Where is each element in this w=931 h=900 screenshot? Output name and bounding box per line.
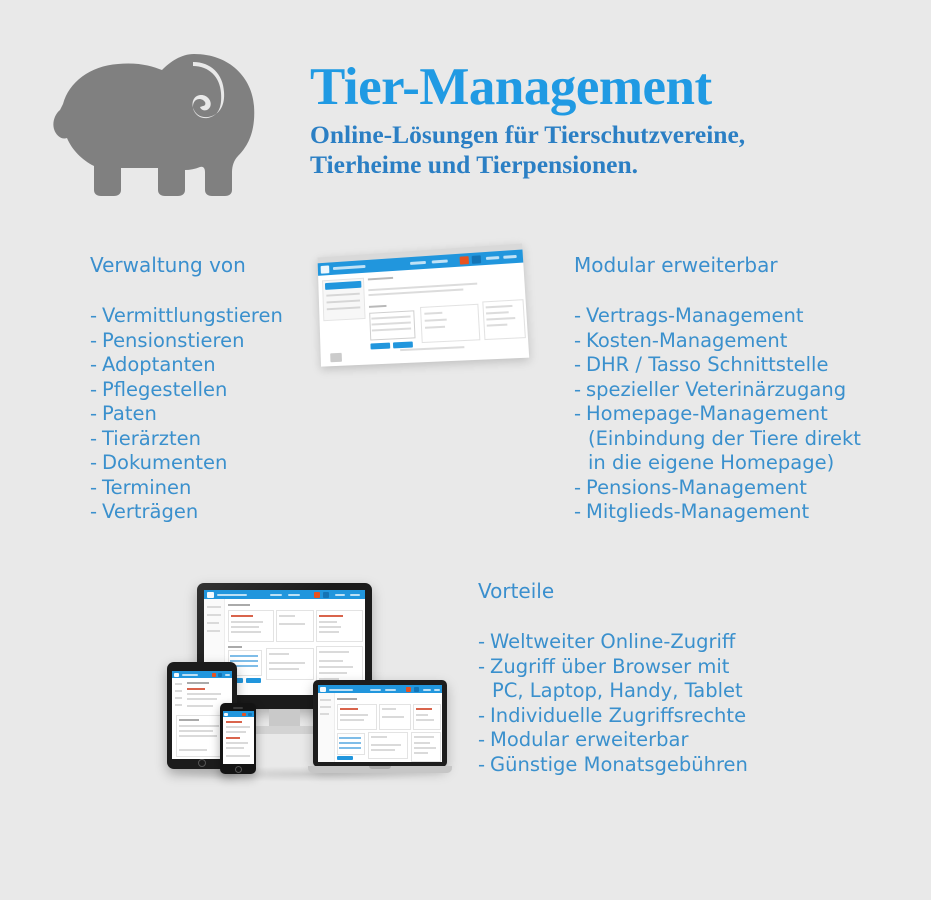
nav-item (225, 674, 230, 676)
nav-item (385, 689, 396, 691)
app-body (318, 263, 529, 367)
dash-marker: - (478, 728, 490, 753)
list-item: -Modular erweiterbar (478, 728, 798, 753)
card-line (416, 714, 428, 716)
panel-line (414, 742, 430, 744)
list-item: -Kosten-Management (574, 329, 904, 354)
sidebar-item (326, 293, 359, 297)
feature-list-verwaltung: -Vermittlungstieren -Pensionstieren -Ado… (90, 304, 320, 525)
secondary-button[interactable] (393, 341, 413, 348)
panel-line (414, 752, 428, 754)
dash-marker: - (574, 402, 586, 427)
list-item: -Mitglieds-Management (574, 500, 904, 525)
panel-line (319, 651, 349, 653)
phone-screen (223, 711, 254, 764)
list-item-label: spezieller Veterinärzugang (586, 378, 846, 401)
dash-marker: - (90, 329, 102, 354)
list-item: -Weltweiter Online-Zugriff (478, 630, 798, 655)
list-item-label: Modular erweiterbar (490, 728, 688, 751)
dash-marker: - (478, 630, 490, 655)
list-item-label: Pensions-Management (586, 476, 807, 499)
panel-line (319, 666, 353, 668)
content-line (226, 737, 240, 739)
secondary-button[interactable] (246, 678, 261, 683)
nav-item (370, 689, 381, 691)
card-line (416, 708, 432, 710)
panel-line (319, 660, 343, 662)
card-line (340, 708, 358, 710)
page-heading (337, 698, 357, 700)
list-item-label: Pflegestellen (102, 378, 227, 401)
list-item-label: Pensionstieren (102, 329, 244, 352)
nav-action-icon (248, 713, 252, 716)
card-line (319, 626, 341, 628)
nav-item (423, 689, 431, 691)
sidebar-item (175, 704, 182, 706)
title-block: Tier-Management Online-Lösungen für Tier… (310, 58, 910, 180)
nav-item (410, 261, 426, 265)
list-item: -Pensionstieren (90, 329, 320, 354)
dash-marker: - (574, 329, 586, 354)
laptop-notch (369, 766, 391, 769)
dash-marker: - (90, 353, 102, 378)
sidebar-item (327, 306, 361, 310)
card-line (279, 623, 305, 625)
tablet-home-button[interactable] (198, 759, 206, 767)
page-heading (228, 604, 250, 606)
list-item: -Adoptanten (90, 353, 320, 378)
card-line (319, 615, 343, 617)
list-item-label: Homepage-Management (586, 402, 828, 425)
detail-panel (420, 304, 480, 343)
list-item-label: Kosten-Management (586, 329, 787, 352)
card-line (382, 716, 404, 718)
sidebar-active-item (325, 281, 361, 290)
list-item-label: Vertrags-Management (586, 304, 803, 327)
card-line (231, 621, 263, 623)
card-line (279, 615, 295, 617)
list-item: -DHR / Tasso Schnittstelle (574, 353, 904, 378)
list-item-label: Dokumenten (102, 451, 227, 474)
feature-list-modular: -Vertrags-Management -Kosten-Management … (574, 304, 904, 525)
app-navbar (172, 671, 232, 678)
panel-line (371, 749, 395, 751)
content-line (187, 693, 221, 695)
nav-item (432, 259, 448, 263)
nav-item (434, 689, 440, 691)
phone-home-button[interactable] (235, 766, 242, 773)
column-heading-vorteile: Vorteile (478, 578, 798, 604)
column-vorteile: Vorteile -Weltweiter Online-Zugriff -Zug… (478, 578, 798, 777)
dash-marker: - (574, 500, 586, 525)
card-line (319, 621, 337, 623)
dash-marker: - (574, 304, 586, 329)
list-item-label: Paten (102, 402, 157, 425)
list-item: -Tierärzten (90, 427, 320, 452)
dash-marker: - (90, 427, 102, 452)
notification-badge (212, 673, 216, 677)
app-logo-icon (224, 713, 228, 716)
card-line (231, 626, 259, 628)
nav-item (350, 594, 360, 596)
app-navbar (204, 590, 365, 599)
card-line (179, 730, 213, 732)
nav-action-icon (323, 592, 329, 598)
section-heading (228, 646, 242, 648)
content-line (187, 705, 213, 707)
dash-marker: - (90, 378, 102, 403)
nav-item (503, 255, 517, 259)
panel-line (414, 747, 436, 749)
nav-item (288, 594, 300, 596)
grid-row (230, 655, 258, 657)
list-item-label: Zugriff über Browser mit (490, 655, 729, 678)
list-item-label: Vermittlungstieren (102, 304, 283, 327)
nav-action-icon (414, 687, 419, 692)
list-item-label: Individuelle Zugriffsrechte (490, 704, 746, 727)
nav-item (270, 594, 282, 596)
subtitle-line-2: Tierheime und Tierpensionen. (310, 150, 910, 180)
primary-button[interactable] (337, 756, 353, 760)
panel-line (269, 662, 305, 664)
column-heading-modular: Modular erweiterbar (574, 252, 904, 278)
content-line (226, 726, 250, 728)
sidebar-item (175, 690, 182, 692)
content-heading (368, 277, 393, 281)
content-line (226, 755, 250, 757)
content-line (226, 747, 244, 749)
content-line (187, 698, 217, 700)
list-item: -Verträgen (90, 500, 320, 525)
content-line (226, 742, 248, 744)
dash-marker: - (478, 753, 490, 778)
grid-row (339, 742, 361, 744)
list-item: -spezieller Veterinärzugang (574, 378, 904, 403)
card-line (319, 631, 339, 633)
list-item: -Homepage-Management (Einbindung der Tie… (574, 402, 904, 476)
list-item: -Dokumenten (90, 451, 320, 476)
card-line (231, 615, 253, 617)
panel-line (414, 736, 434, 738)
page-heading (187, 682, 209, 684)
elephant-icon (42, 44, 274, 206)
app-logo-icon (174, 673, 179, 677)
sidebar-item (207, 614, 221, 616)
app-logo-icon (207, 592, 214, 598)
card-heading (179, 719, 199, 721)
column-modular: Modular erweiterbar -Vertrags-Management… (574, 252, 904, 525)
notification-badge (314, 592, 320, 598)
sidebar-item (320, 699, 331, 701)
dash-marker: - (90, 451, 102, 476)
list-item: -Paten (90, 402, 320, 427)
list-item-label: Terminen (102, 476, 191, 499)
browser-app-screenshot (318, 243, 530, 366)
dash-marker: - (90, 402, 102, 427)
poster-page: Tier-Management Online-Lösungen für Tier… (0, 0, 931, 900)
list-item: -Terminen (90, 476, 320, 501)
nav-item (335, 594, 345, 596)
nav-item (486, 256, 499, 260)
dash-marker: - (90, 476, 102, 501)
dash-marker: - (574, 378, 586, 403)
sidebar-item (207, 622, 219, 624)
list-item: -Vertrags-Management (574, 304, 904, 329)
nav-item (182, 674, 198, 676)
app-sidebar (322, 278, 366, 321)
footer-logo (330, 353, 342, 362)
sidebar-item (175, 683, 182, 685)
sidebar-item (320, 713, 329, 715)
dash-marker: - (478, 655, 490, 680)
list-item: -Individuelle Zugriffsrechte (478, 704, 798, 729)
list-item: -Pensions-Management (574, 476, 904, 501)
card-line (179, 725, 219, 727)
laptop (308, 680, 452, 780)
nav-item (333, 265, 366, 270)
card-line (179, 749, 207, 751)
app-logo-icon (321, 265, 330, 273)
device-mockups (160, 578, 460, 788)
app-logo-icon (320, 687, 326, 692)
page-title: Tier-Management (310, 58, 910, 116)
list-item-label: Mitglieds-Management (586, 500, 809, 523)
laptop-screen (318, 685, 442, 762)
nav-action-icon (218, 673, 222, 677)
panel-line (269, 668, 299, 670)
feature-list-vorteile: -Weltweiter Online-Zugriff -Zugriff über… (478, 630, 798, 777)
page-subtitle: Online-Lösungen für Tierschutzvereine, T… (310, 120, 910, 180)
list-item-subline: PC, Laptop, Handy, Tablet (478, 679, 798, 704)
list-item-label: Adoptanten (102, 353, 216, 376)
column-heading-verwaltung: Verwaltung von (90, 252, 320, 278)
primary-button[interactable] (370, 343, 390, 350)
card-line (231, 631, 261, 633)
list-item: -Zugriff über Browser mit PC, Laptop, Ha… (478, 655, 798, 704)
grid-row (339, 737, 361, 739)
content-line (226, 721, 242, 723)
content-line (187, 688, 205, 690)
card-line (179, 735, 217, 737)
app-sidebar (318, 693, 335, 762)
list-item: -Pflegestellen (90, 378, 320, 403)
notification-badge (242, 713, 246, 716)
column-verwaltung: Verwaltung von -Vermittlungstieren -Pens… (90, 252, 320, 525)
content-heading (369, 305, 387, 308)
list-item-label: Günstige Monatsgebühren (490, 753, 748, 776)
card-line (340, 714, 368, 716)
notification-badge (460, 256, 469, 265)
app-navbar (223, 711, 254, 717)
notification-badge (406, 687, 411, 692)
dash-marker: - (90, 500, 102, 525)
header: Tier-Management Online-Lösungen für Tier… (0, 0, 931, 215)
list-item-subline: in die eigene Homepage) (574, 451, 904, 476)
nav-item (329, 689, 353, 691)
panel-line (371, 744, 401, 746)
card-line (382, 708, 396, 710)
list-item-label: Verträgen (102, 500, 198, 523)
list-item-label: Tierärzten (102, 427, 201, 450)
smartphone (220, 703, 256, 774)
dash-marker: - (478, 704, 490, 729)
content-line (226, 731, 246, 733)
card-line (340, 719, 364, 721)
sidebar-item (207, 606, 221, 608)
list-item-label: Weltweiter Online-Zugriff (490, 630, 735, 653)
app-navbar (318, 685, 442, 693)
card-line (416, 719, 434, 721)
sidebar-item (207, 630, 220, 632)
list-item-subline: (Einbindung der Tiere direkt (574, 427, 904, 452)
list-item-label: DHR / Tasso Schnittstelle (586, 353, 828, 376)
dash-marker: - (574, 476, 586, 501)
grid-row (339, 747, 361, 749)
sidebar-item (320, 706, 331, 708)
dash-marker: - (90, 304, 102, 329)
list-item: -Günstige Monatsgebühren (478, 753, 798, 778)
panel-line (319, 672, 347, 674)
panel-line (269, 653, 289, 655)
dash-marker: - (574, 353, 586, 378)
phone-speaker (233, 707, 243, 709)
sidebar-item (175, 697, 182, 699)
sidebar-item (327, 300, 361, 304)
panel-line (371, 736, 387, 738)
list-item: -Vermittlungstieren (90, 304, 320, 329)
subtitle-line-1: Online-Lösungen für Tierschutzvereine, (310, 120, 910, 150)
nav-action-icon (472, 255, 482, 264)
nav-item (217, 594, 247, 596)
